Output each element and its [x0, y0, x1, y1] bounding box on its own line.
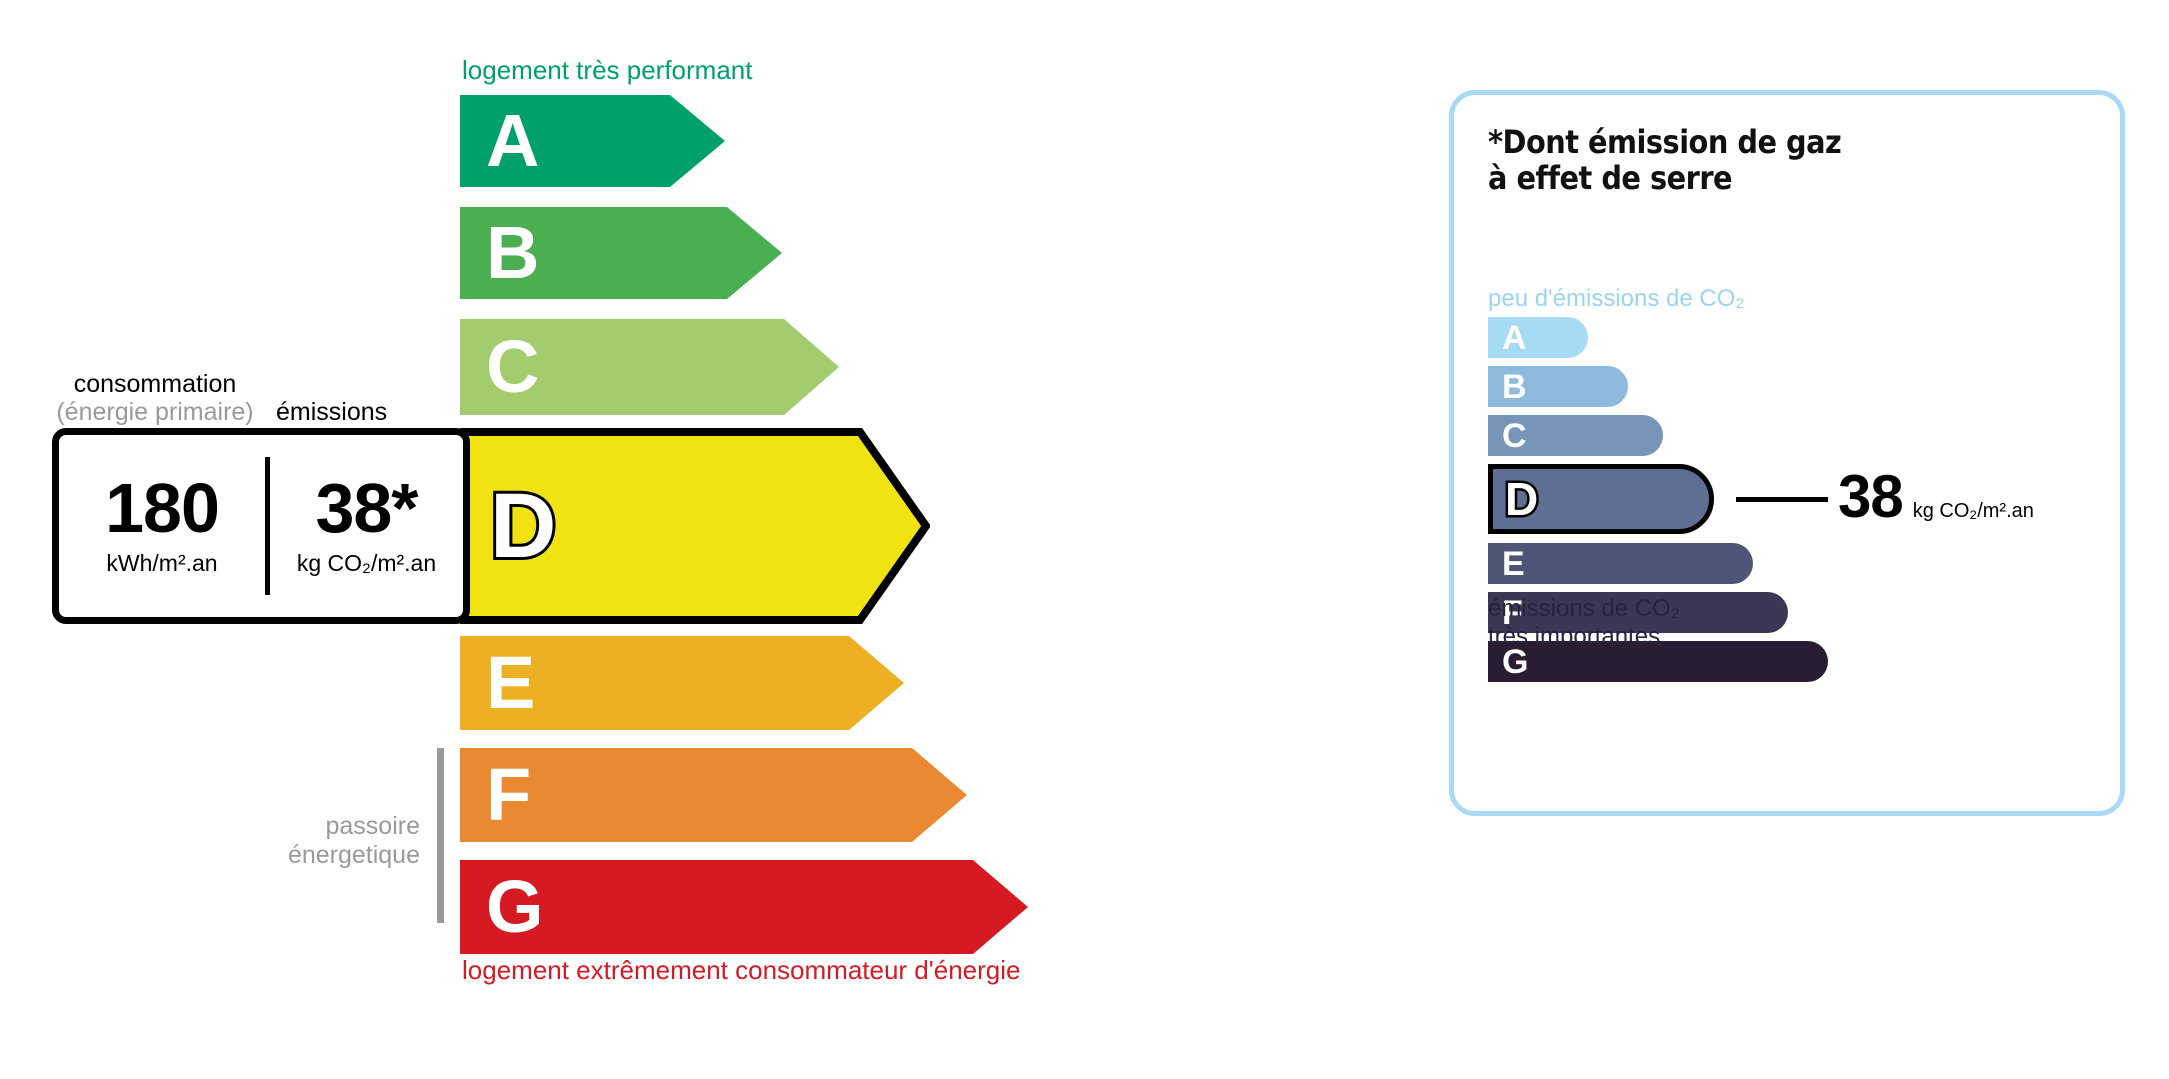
energy-row-e: E [460, 636, 904, 730]
dpe-ges-diagram: logement très performant ABCDEFG consomm… [0, 0, 2169, 1079]
energy-top-caption: logement très performant [462, 55, 752, 86]
ges-top-caption: peu d'émissions de CO₂ [1488, 285, 1745, 313]
ges-letter-d: D [1505, 476, 1538, 522]
ges-bottom-caption: émissions de CO₂ très importantes [1488, 595, 1680, 651]
energy-row-g: G [460, 860, 1028, 954]
ges-bottom-caption-line1: émissions de CO₂ [1488, 595, 1680, 622]
energy-performance-scale: logement très performant ABCDEFG consomm… [0, 0, 1400, 1079]
energy-row-d: D [460, 428, 930, 624]
ges-value-callout: 38 kg CO₂/m².an [1838, 467, 2034, 527]
ges-value-number: 38 [1838, 467, 1903, 527]
ges-bar-b: B [1488, 366, 1628, 407]
energy-row-c: C [460, 319, 839, 415]
ges-letter-b: B [1502, 370, 1527, 404]
energy-arrow-e: E [460, 636, 904, 730]
energy-arrow-c: C [460, 319, 839, 415]
consumption-label-line2: (énergie primaire) [56, 398, 253, 426]
ges-bar-d: D [1488, 464, 1714, 534]
ges-panel: *Dont émission de gaz à effet de serre p… [1449, 90, 2125, 816]
ges-row-b: B [1488, 366, 1628, 407]
consumption-label: consommation (énergie primaire) [52, 370, 258, 426]
energy-arrow-b: B [460, 207, 782, 299]
ges-row-e: E [1488, 543, 1753, 584]
energy-row-b: B [460, 207, 782, 299]
energy-bottom-caption: logement extrêmement consommateur d'éner… [462, 955, 1020, 986]
ges-row-c: C [1488, 415, 1663, 456]
emission-cell: 38* kg CO₂/m².an [270, 435, 463, 617]
emission-unit: kg CO₂/m².an [297, 550, 436, 577]
energy-arrow-g: G [460, 860, 1028, 954]
consumption-label-line1: consommation [74, 370, 237, 398]
ges-bar-a: A [1488, 317, 1588, 358]
energy-row-a: A [460, 95, 725, 187]
energy-arrow-f: F [460, 748, 967, 842]
consumption-value-box: 180 kWh/m².an 38* kg CO₂/m².an [52, 428, 470, 624]
ges-title-line2: à effet de serre [1488, 159, 1732, 197]
emission-value: 38* [315, 475, 417, 542]
energy-row-f: F [460, 748, 967, 842]
consumption-value: 180 [105, 475, 219, 542]
ges-bar-c: C [1488, 415, 1663, 456]
ges-letter-e: E [1502, 547, 1525, 581]
emissions-label: émissions [276, 398, 387, 427]
ges-row-a: A [1488, 317, 1588, 358]
ges-row-d: D [1488, 464, 1714, 534]
passoire-label: passoire énergetique [150, 812, 420, 870]
consumption-cell: 180 kWh/m².an [59, 435, 265, 617]
passoire-bracket [437, 748, 444, 923]
ges-letter-a: A [1502, 321, 1527, 355]
energy-arrow-a: A [460, 95, 725, 187]
energy-arrow-d: D [460, 428, 930, 624]
passoire-line2: énergetique [288, 841, 420, 869]
consumption-unit: kWh/m².an [106, 550, 217, 577]
ges-value-unit: kg CO₂/m².an [1913, 500, 2034, 523]
ges-bottom-caption-line2: très importantes [1488, 623, 1660, 650]
ges-bar-e: E [1488, 543, 1753, 584]
ges-letter-c: C [1502, 419, 1527, 453]
ges-title-line1: *Dont émission de gaz [1488, 123, 1841, 161]
ges-connector-line [1736, 497, 1828, 502]
ges-title: *Dont émission de gaz à effet de serre [1488, 125, 1841, 197]
passoire-line1: passoire [326, 812, 421, 840]
